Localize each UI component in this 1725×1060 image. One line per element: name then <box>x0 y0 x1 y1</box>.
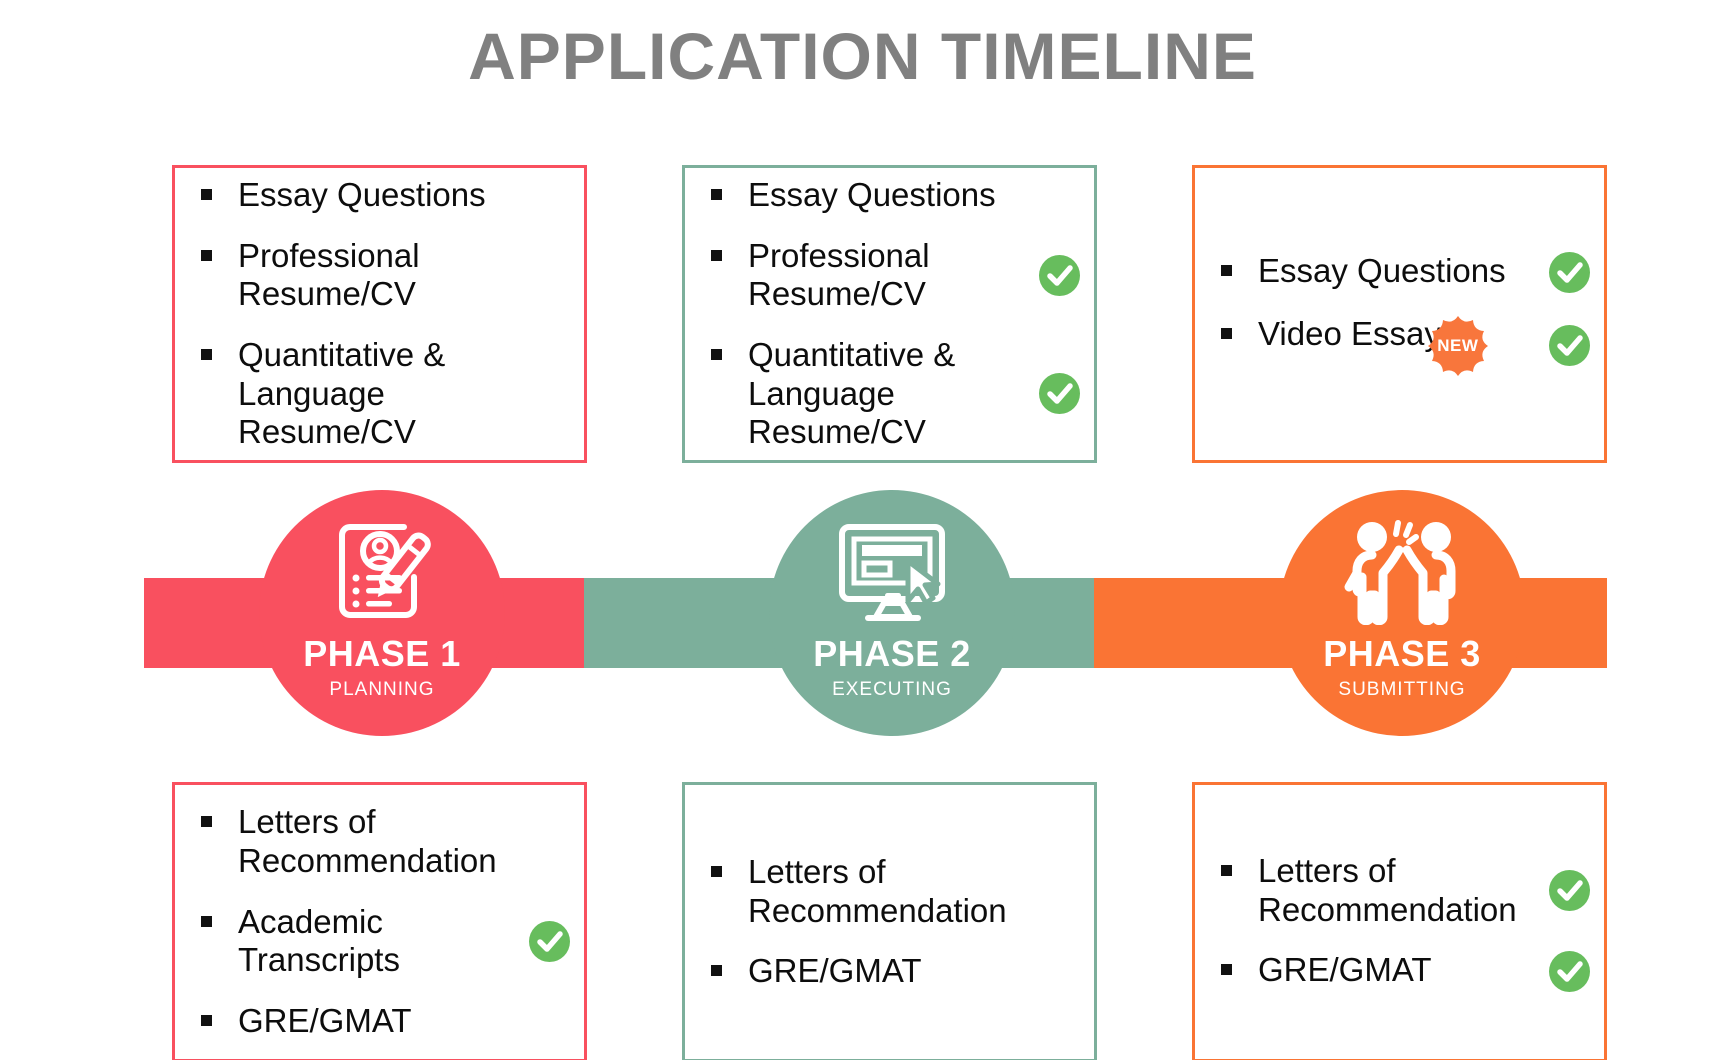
bullet-icon <box>201 250 212 261</box>
bullet-icon <box>1221 265 1232 276</box>
list-item: Professional Resume/CV <box>711 237 1080 314</box>
list-item-label: Letters of Recommendation <box>748 853 1007 930</box>
phase-1-title: PHASE 1 <box>303 636 461 672</box>
bullet-icon <box>711 250 722 261</box>
phase3-bottom-card: Letters of RecommendationGRE/GMAT <box>1192 782 1607 1060</box>
list-item: Letters of Recommendation <box>201 803 570 880</box>
phase-circle-2[interactable]: PHASE 2 EXECUTING <box>769 490 1015 736</box>
list-item: GRE/GMAT <box>711 952 1080 991</box>
list-item-label: Professional Resume/CV <box>748 237 930 314</box>
list-item: Quantitative & Language Resume/CV <box>201 336 570 452</box>
list-item-label: Academic Transcripts <box>238 903 400 980</box>
list-item-label: Essay Questions <box>1258 252 1506 291</box>
phase-3-subtitle: SUBMITTING <box>1338 679 1465 701</box>
phase1-top-card: Essay QuestionsProfessional Resume/CVQua… <box>172 165 587 463</box>
list-item-label: GRE/GMAT <box>1258 951 1432 990</box>
bullet-icon <box>711 349 722 360</box>
checkmark-icon <box>1039 255 1080 296</box>
list-item: Essay Questions <box>1221 252 1590 293</box>
list-item: Academic Transcripts <box>201 903 570 980</box>
list-item: Quantitative & Language Resume/CV <box>711 336 1080 452</box>
phase2-top-list: Essay QuestionsProfessional Resume/CVQua… <box>685 176 1094 452</box>
list-item-label: GRE/GMAT <box>238 1002 412 1041</box>
checkmark-icon <box>1549 870 1590 911</box>
checkmark-icon <box>1039 373 1080 414</box>
list-item: Essay Questions <box>201 176 570 215</box>
page-title: APPLICATION TIMELINE <box>0 18 1725 94</box>
bullet-icon <box>201 189 212 200</box>
list-item-label: Quantitative & Language Resume/CV <box>238 336 445 452</box>
document-person-pencil-icon <box>326 512 438 630</box>
list-item-label: Quantitative & Language Resume/CV <box>748 336 955 452</box>
checkmark-icon <box>1549 252 1590 293</box>
phase-circle-1[interactable]: PHASE 1 PLANNING <box>259 490 505 736</box>
bullet-icon <box>1221 865 1232 876</box>
checkmark-icon <box>1549 325 1590 366</box>
list-item-label: Essay Questions <box>238 176 486 215</box>
bullet-icon <box>711 866 722 877</box>
checkmark-icon <box>1549 951 1590 992</box>
new-badge-icon: NEW <box>1427 315 1489 377</box>
bullet-icon <box>1221 964 1232 975</box>
list-item-label: Letters of Recommendation <box>1258 852 1517 929</box>
list-item: Video EssayNEW <box>1221 315 1590 377</box>
list-item: Professional Resume/CV <box>201 237 570 314</box>
phase-2-title: PHASE 2 <box>813 636 971 672</box>
new-badge-label: NEW <box>1427 315 1489 377</box>
phase-2-subtitle: EXECUTING <box>832 679 952 701</box>
phase1-bottom-card: Letters of RecommendationAcademic Transc… <box>172 782 587 1060</box>
list-item-label: Letters of Recommendation <box>238 803 497 880</box>
phase3-top-card: Essay QuestionsVideo EssayNEW <box>1192 165 1607 463</box>
list-item: Letters of Recommendation <box>711 853 1080 930</box>
timeline-infographic: APPLICATION TIMELINE Essay QuestionsProf… <box>0 0 1725 1060</box>
checkmark-icon <box>529 921 570 962</box>
list-item-label: Professional Resume/CV <box>238 237 420 314</box>
bullet-icon <box>201 349 212 360</box>
bullet-icon <box>711 965 722 976</box>
list-item-label: Essay Questions <box>748 176 996 215</box>
people-high-five-icon <box>1336 512 1468 630</box>
phase1-bottom-list: Letters of RecommendationAcademic Transc… <box>175 803 584 1040</box>
phase3-bottom-list: Letters of RecommendationGRE/GMAT <box>1195 852 1604 992</box>
list-item-label: Video Essay <box>1258 315 1441 354</box>
bullet-icon <box>711 189 722 200</box>
list-item: GRE/GMAT <box>201 1002 570 1041</box>
phase2-top-card: Essay QuestionsProfessional Resume/CVQua… <box>682 165 1097 463</box>
phase-1-subtitle: PLANNING <box>329 679 434 701</box>
phase-circle-3[interactable]: PHASE 3 SUBMITTING <box>1279 490 1525 736</box>
bullet-icon <box>201 816 212 827</box>
list-item: Letters of Recommendation <box>1221 852 1590 929</box>
desktop-monitor-cursor-icon <box>832 512 952 630</box>
bullet-icon <box>1221 328 1232 339</box>
phase1-top-list: Essay QuestionsProfessional Resume/CVQua… <box>175 176 584 452</box>
bullet-icon <box>201 916 212 927</box>
phase2-bottom-card: Letters of RecommendationGRE/GMAT <box>682 782 1097 1060</box>
list-item: GRE/GMAT <box>1221 951 1590 992</box>
phase2-bottom-list: Letters of RecommendationGRE/GMAT <box>685 853 1094 991</box>
phase3-top-list: Essay QuestionsVideo EssayNEW <box>1195 252 1604 377</box>
phase-3-title: PHASE 3 <box>1323 636 1481 672</box>
list-item-label: GRE/GMAT <box>748 952 922 991</box>
bullet-icon <box>201 1015 212 1026</box>
list-item: Essay Questions <box>711 176 1080 215</box>
